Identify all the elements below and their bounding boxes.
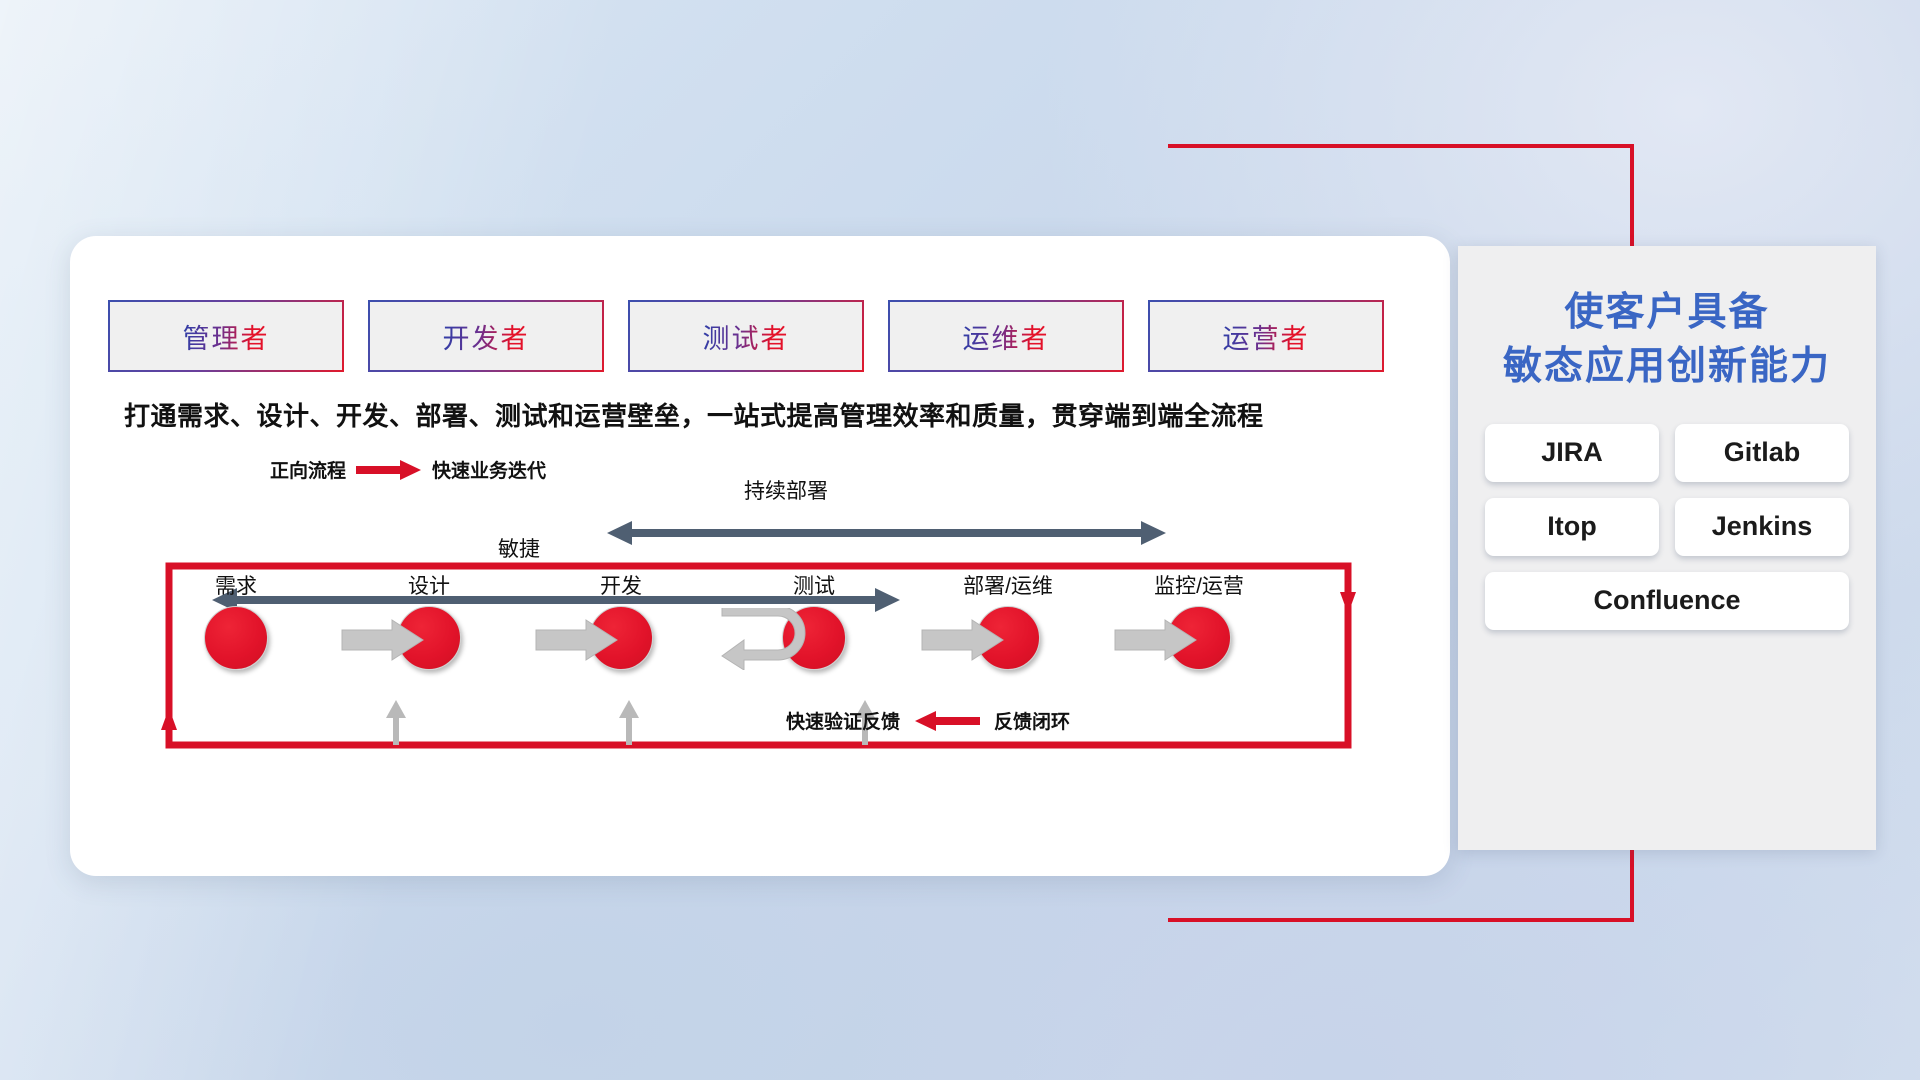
value-proposition-panel: 使客户具备 敏态应用创新能力 JIRA Gitlab Itop Jenkins … <box>1458 246 1876 850</box>
stage-label: 设计 <box>369 576 489 597</box>
gray-arrow-icon <box>1113 618 1199 662</box>
legend-forward-left-label: 正向流程 <box>270 456 346 483</box>
role-box-tester[interactable]: 测试者 <box>630 302 862 370</box>
description-text: 打通需求、设计、开发、部署、测试和运营壁垒，一站式提高管理效率和质量，贯穿端到端… <box>124 396 1424 433</box>
tool-pill-confluence[interactable]: Confluence <box>1485 572 1849 630</box>
role-box-ops[interactable]: 运维者 <box>890 302 1122 370</box>
pipeline-stage-requirement[interactable]: 需求 <box>176 576 296 670</box>
stage-label: 开发 <box>561 576 681 597</box>
tool-pill-jenkins[interactable]: Jenkins <box>1675 498 1849 556</box>
panel-title-line1: 使客户具备 <box>1458 286 1876 340</box>
legend-feedback-loop: 快速验证反馈 反馈闭环 <box>786 707 1070 734</box>
gray-arrow-icon <box>340 618 426 662</box>
tool-pill-gitlab[interactable]: Gitlab <box>1675 424 1849 482</box>
span-label-agile: 敏捷 <box>498 533 540 563</box>
tool-pill-list: JIRA Gitlab Itop Jenkins Confluence <box>1482 424 1852 630</box>
gray-arrow-icon <box>920 618 1006 662</box>
panel-title: 使客户具备 敏态应用创新能力 <box>1458 246 1876 394</box>
loop-back-arrow-icon <box>720 608 820 670</box>
legend-forward-flow: 正向流程 快速业务迭代 <box>270 456 546 483</box>
role-box-operations[interactable]: 运营者 <box>1150 302 1382 370</box>
role-label: 运维者 <box>963 317 1050 356</box>
stage-label: 部署/运维 <box>948 576 1068 597</box>
legend-feedback-right-label: 反馈闭环 <box>994 707 1070 734</box>
tool-pill-itop[interactable]: Itop <box>1485 498 1659 556</box>
role-label: 管理者 <box>183 317 270 356</box>
stage-label: 需求 <box>176 576 296 597</box>
role-label: 运营者 <box>1223 317 1310 356</box>
role-box-row: 管理者 开发者 测试者 运维者 运营者 <box>110 302 1382 370</box>
red-left-arrow-icon <box>914 710 980 732</box>
red-right-arrow-icon <box>356 459 422 481</box>
tool-pill-jira[interactable]: JIRA <box>1485 424 1659 482</box>
role-label: 测试者 <box>703 317 790 356</box>
panel-title-line2: 敏态应用创新能力 <box>1458 340 1876 394</box>
role-box-developer[interactable]: 开发者 <box>370 302 602 370</box>
span-label-continuous-deployment: 持续部署 <box>744 475 828 505</box>
legend-feedback-left-label: 快速验证反馈 <box>786 707 900 734</box>
legend-forward-right-label: 快速业务迭代 <box>432 456 546 483</box>
stage-label: 测试 <box>754 576 874 597</box>
devops-pipeline: 需求 设计 开发 测试 部署/运维 监控/运营 <box>100 576 1160 686</box>
gray-arrow-icon <box>534 618 620 662</box>
stage-label: 监控/运营 <box>1139 576 1259 597</box>
role-label: 开发者 <box>443 317 530 356</box>
stage-dot-icon <box>204 606 268 670</box>
role-box-manager[interactable]: 管理者 <box>110 302 342 370</box>
